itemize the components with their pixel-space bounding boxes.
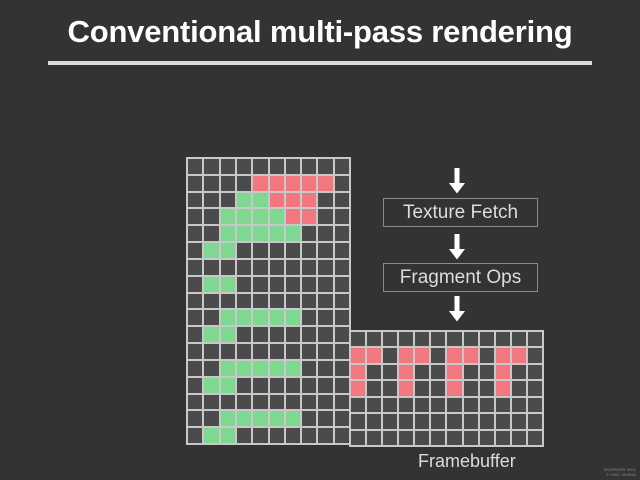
- grid-cell-empty: [415, 431, 429, 445]
- grid-cell-empty: [480, 398, 494, 412]
- grid-cell-empty: [286, 395, 300, 410]
- grid-cell-green: [237, 209, 251, 224]
- grid-cell-empty: [204, 361, 218, 376]
- grid-cell-green: [253, 361, 267, 376]
- source-geometry-grid: [186, 157, 351, 445]
- grid-cell-empty: [237, 176, 251, 191]
- grid-cell-empty: [302, 294, 316, 309]
- grid-cell-empty: [318, 209, 332, 224]
- grid-cell-green: [253, 226, 267, 241]
- grid-cell-green: [286, 411, 300, 426]
- watermark-line-2: © 2001, NVIDIA: [604, 472, 636, 477]
- grid-cell-empty: [431, 365, 445, 379]
- grid-cell-empty: [512, 398, 526, 412]
- grid-cell-red: [351, 365, 365, 379]
- grid-cell-green: [237, 361, 251, 376]
- grid-cell-empty: [270, 260, 284, 275]
- grid-cell-empty: [335, 243, 349, 258]
- grid-cell-empty: [335, 310, 349, 325]
- grid-cell-red: [496, 381, 510, 395]
- grid-cell-empty: [383, 365, 397, 379]
- grid-cell-empty: [528, 348, 542, 362]
- grid-cell-empty: [270, 344, 284, 359]
- grid-cell-red: [415, 348, 429, 362]
- grid-cell-empty: [204, 294, 218, 309]
- grid-cell-empty: [318, 243, 332, 258]
- grid-cell-red: [496, 348, 510, 362]
- grid-cell-empty: [204, 411, 218, 426]
- grid-cell-empty: [318, 344, 332, 359]
- grid-cell-red: [399, 365, 413, 379]
- grid-cell-green: [286, 361, 300, 376]
- grid-cell-empty: [188, 277, 202, 292]
- grid-cell-green: [270, 310, 284, 325]
- grid-cell-green: [237, 310, 251, 325]
- stage-texture-fetch-label: Texture Fetch: [403, 202, 518, 224]
- grid-cell-red: [318, 176, 332, 191]
- grid-cell-empty: [480, 414, 494, 428]
- grid-cell-empty: [237, 159, 251, 174]
- grid-cell-empty: [237, 428, 251, 443]
- grid-cell-red: [286, 176, 300, 191]
- grid-cell-red: [496, 365, 510, 379]
- grid-cell-green: [204, 327, 218, 342]
- grid-cell-empty: [221, 159, 235, 174]
- grid-cell-empty: [204, 395, 218, 410]
- grid-cell-empty: [204, 209, 218, 224]
- grid-cell-green: [237, 411, 251, 426]
- grid-cell-green: [221, 327, 235, 342]
- grid-cell-green: [204, 428, 218, 443]
- grid-cell-empty: [204, 344, 218, 359]
- grid-cell-empty: [399, 332, 413, 346]
- grid-cell-empty: [188, 209, 202, 224]
- grid-cell-empty: [286, 243, 300, 258]
- grid-cell-red: [302, 209, 316, 224]
- grid-cell-red: [302, 176, 316, 191]
- page-title: Conventional multi-pass rendering: [0, 14, 640, 50]
- grid-cell-empty: [447, 431, 461, 445]
- framebuffer-grid: [349, 330, 544, 447]
- grid-cell-empty: [302, 428, 316, 443]
- grid-cell-green: [204, 378, 218, 393]
- grid-cell-empty: [188, 159, 202, 174]
- grid-cell-empty: [253, 395, 267, 410]
- grid-cell-empty: [464, 381, 478, 395]
- grid-cell-empty: [447, 332, 461, 346]
- grid-cell-empty: [204, 226, 218, 241]
- grid-cell-empty: [399, 414, 413, 428]
- grid-cell-green: [237, 226, 251, 241]
- grid-cell-empty: [270, 428, 284, 443]
- grid-cell-empty: [286, 428, 300, 443]
- grid-cell-empty: [204, 159, 218, 174]
- stage-fragment-ops: Fragment Ops: [383, 263, 538, 292]
- grid-cell-red: [351, 348, 365, 362]
- grid-cell-green: [204, 243, 218, 258]
- grid-cell-empty: [253, 243, 267, 258]
- grid-cell-empty: [496, 431, 510, 445]
- grid-cell-empty: [335, 378, 349, 393]
- grid-cell-green: [221, 277, 235, 292]
- grid-cell-empty: [302, 243, 316, 258]
- grid-cell-empty: [286, 260, 300, 275]
- grid-cell-green: [270, 361, 284, 376]
- grid-cell-green: [253, 193, 267, 208]
- watermark: SIGGRAPH 2001 © 2001, NVIDIA: [604, 467, 636, 477]
- grid-cell-red: [399, 348, 413, 362]
- grid-cell-empty: [221, 176, 235, 191]
- grid-cell-empty: [480, 381, 494, 395]
- grid-cell-empty: [318, 378, 332, 393]
- grid-cell-red: [302, 193, 316, 208]
- grid-cell-empty: [253, 294, 267, 309]
- grid-cell-empty: [415, 332, 429, 346]
- grid-cell-empty: [335, 327, 349, 342]
- grid-cell-empty: [431, 398, 445, 412]
- grid-cell-empty: [318, 361, 332, 376]
- grid-cell-empty: [431, 332, 445, 346]
- grid-cell-empty: [237, 294, 251, 309]
- grid-cell-empty: [351, 398, 365, 412]
- grid-cell-empty: [335, 344, 349, 359]
- grid-cell-empty: [188, 395, 202, 410]
- grid-cell-empty: [318, 260, 332, 275]
- grid-cell-empty: [318, 159, 332, 174]
- grid-cell-empty: [480, 365, 494, 379]
- grid-cell-empty: [399, 431, 413, 445]
- grid-cell-empty: [253, 159, 267, 174]
- grid-cell-empty: [204, 260, 218, 275]
- grid-cell-empty: [318, 327, 332, 342]
- grid-cell-empty: [480, 431, 494, 445]
- grid-cell-empty: [431, 431, 445, 445]
- stage-texture-fetch: Texture Fetch: [383, 198, 538, 227]
- grid-cell-empty: [253, 378, 267, 393]
- grid-cell-empty: [253, 428, 267, 443]
- grid-cell-empty: [415, 381, 429, 395]
- grid-cell-empty: [318, 226, 332, 241]
- grid-cell-empty: [447, 398, 461, 412]
- grid-cell-empty: [415, 414, 429, 428]
- grid-cell-empty: [188, 193, 202, 208]
- grid-cell-empty: [512, 365, 526, 379]
- grid-cell-empty: [383, 398, 397, 412]
- grid-cell-empty: [335, 176, 349, 191]
- grid-cell-green: [221, 428, 235, 443]
- grid-cell-empty: [431, 414, 445, 428]
- grid-cell-red: [270, 176, 284, 191]
- grid-cell-empty: [270, 277, 284, 292]
- grid-cell-empty: [367, 398, 381, 412]
- grid-cell-empty: [188, 428, 202, 443]
- grid-cell-empty: [270, 378, 284, 393]
- grid-cell-red: [286, 193, 300, 208]
- grid-cell-empty: [237, 277, 251, 292]
- grid-cell-empty: [464, 431, 478, 445]
- grid-cell-empty: [286, 344, 300, 359]
- grid-cell-empty: [204, 176, 218, 191]
- grid-cell-empty: [188, 243, 202, 258]
- grid-cell-empty: [270, 294, 284, 309]
- grid-cell-empty: [302, 226, 316, 241]
- grid-cell-empty: [528, 381, 542, 395]
- grid-cell-empty: [204, 310, 218, 325]
- grid-cell-empty: [496, 414, 510, 428]
- slide-canvas: Conventional multi-pass rendering Textur…: [0, 0, 640, 480]
- grid-cell-empty: [496, 398, 510, 412]
- grid-cell-empty: [302, 277, 316, 292]
- grid-cell-empty: [318, 428, 332, 443]
- grid-cell-green: [221, 310, 235, 325]
- grid-cell-empty: [496, 332, 510, 346]
- grid-cell-empty: [367, 332, 381, 346]
- grid-cell-empty: [302, 159, 316, 174]
- grid-cell-empty: [383, 348, 397, 362]
- grid-cell-empty: [253, 277, 267, 292]
- grid-cell-empty: [335, 361, 349, 376]
- grid-cell-empty: [286, 327, 300, 342]
- grid-cell-empty: [221, 344, 235, 359]
- grid-cell-empty: [188, 344, 202, 359]
- grid-cell-empty: [253, 327, 267, 342]
- grid-cell-empty: [447, 414, 461, 428]
- grid-cell-empty: [383, 381, 397, 395]
- grid-cell-empty: [237, 395, 251, 410]
- grid-cell-empty: [302, 310, 316, 325]
- grid-cell-empty: [528, 365, 542, 379]
- arrow-down-icon: [448, 296, 466, 322]
- grid-cell-empty: [464, 332, 478, 346]
- grid-cell-empty: [188, 310, 202, 325]
- grid-cell-empty: [512, 332, 526, 346]
- grid-cell-empty: [335, 428, 349, 443]
- grid-cell-empty: [302, 260, 316, 275]
- grid-cell-empty: [464, 398, 478, 412]
- grid-cell-empty: [367, 381, 381, 395]
- grid-cell-empty: [415, 398, 429, 412]
- grid-cell-red: [512, 348, 526, 362]
- grid-cell-empty: [480, 332, 494, 346]
- grid-cell-green: [204, 277, 218, 292]
- grid-cell-empty: [221, 294, 235, 309]
- grid-cell-green: [253, 411, 267, 426]
- grid-cell-empty: [415, 365, 429, 379]
- stage-fragment-ops-label: Fragment Ops: [400, 267, 521, 289]
- grid-cell-empty: [286, 294, 300, 309]
- grid-cell-red: [286, 209, 300, 224]
- grid-cell-empty: [512, 414, 526, 428]
- grid-cell-empty: [318, 411, 332, 426]
- grid-cell-red: [447, 348, 461, 362]
- grid-cell-empty: [335, 395, 349, 410]
- grid-cell-green: [221, 209, 235, 224]
- grid-cell-empty: [335, 226, 349, 241]
- grid-cell-green: [221, 411, 235, 426]
- grid-cell-red: [447, 365, 461, 379]
- grid-cell-empty: [367, 414, 381, 428]
- grid-cell-green: [270, 411, 284, 426]
- grid-cell-red: [399, 381, 413, 395]
- arrow-down-icon: [448, 168, 466, 194]
- grid-cell-empty: [204, 193, 218, 208]
- grid-cell-green: [286, 310, 300, 325]
- grid-cell-empty: [318, 310, 332, 325]
- grid-cell-empty: [318, 395, 332, 410]
- grid-cell-empty: [302, 361, 316, 376]
- grid-cell-empty: [318, 193, 332, 208]
- grid-cell-empty: [367, 365, 381, 379]
- grid-cell-empty: [464, 414, 478, 428]
- grid-cell-green: [253, 209, 267, 224]
- grid-cell-empty: [237, 243, 251, 258]
- title-underline-rule: [48, 61, 592, 65]
- grid-cell-green: [270, 226, 284, 241]
- grid-cell-empty: [367, 431, 381, 445]
- grid-cell-green: [270, 209, 284, 224]
- grid-cell-red: [464, 348, 478, 362]
- grid-cell-empty: [480, 348, 494, 362]
- grid-cell-empty: [286, 378, 300, 393]
- grid-cell-green: [221, 361, 235, 376]
- grid-cell-empty: [286, 159, 300, 174]
- grid-cell-empty: [528, 332, 542, 346]
- grid-cell-empty: [188, 260, 202, 275]
- grid-cell-empty: [270, 395, 284, 410]
- grid-cell-empty: [302, 395, 316, 410]
- grid-cell-empty: [188, 327, 202, 342]
- grid-cell-green: [221, 243, 235, 258]
- grid-cell-empty: [237, 327, 251, 342]
- grid-cell-empty: [221, 193, 235, 208]
- grid-cell-empty: [318, 277, 332, 292]
- grid-cell-empty: [335, 209, 349, 224]
- grid-cell-red: [367, 348, 381, 362]
- grid-cell-empty: [512, 431, 526, 445]
- grid-cell-empty: [335, 411, 349, 426]
- grid-cell-empty: [431, 348, 445, 362]
- grid-cell-empty: [335, 294, 349, 309]
- grid-cell-empty: [302, 327, 316, 342]
- grid-cell-empty: [188, 378, 202, 393]
- grid-cell-red: [447, 381, 461, 395]
- grid-cell-red: [270, 193, 284, 208]
- grid-cell-empty: [302, 344, 316, 359]
- grid-cell-green: [253, 310, 267, 325]
- grid-cell-empty: [318, 294, 332, 309]
- grid-cell-empty: [237, 344, 251, 359]
- grid-cell-empty: [351, 332, 365, 346]
- framebuffer-label: Framebuffer: [418, 451, 516, 472]
- grid-cell-empty: [237, 260, 251, 275]
- grid-cell-empty: [383, 414, 397, 428]
- grid-cell-empty: [335, 260, 349, 275]
- grid-cell-empty: [464, 365, 478, 379]
- grid-cell-empty: [399, 398, 413, 412]
- grid-cell-empty: [253, 344, 267, 359]
- arrow-down-icon: [448, 234, 466, 260]
- grid-cell-empty: [188, 361, 202, 376]
- grid-cell-green: [221, 226, 235, 241]
- grid-cell-empty: [528, 431, 542, 445]
- grid-cell-empty: [188, 294, 202, 309]
- grid-cell-green: [237, 193, 251, 208]
- grid-cell-green: [286, 226, 300, 241]
- grid-cell-empty: [237, 378, 251, 393]
- grid-cell-empty: [383, 431, 397, 445]
- grid-cell-empty: [270, 243, 284, 258]
- grid-cell-empty: [335, 159, 349, 174]
- grid-cell-empty: [528, 398, 542, 412]
- grid-cell-empty: [512, 381, 526, 395]
- grid-cell-empty: [221, 395, 235, 410]
- grid-cell-empty: [253, 260, 267, 275]
- grid-cell-empty: [431, 381, 445, 395]
- grid-cell-empty: [221, 260, 235, 275]
- grid-cell-red: [351, 381, 365, 395]
- grid-cell-empty: [351, 431, 365, 445]
- grid-cell-empty: [188, 226, 202, 241]
- grid-cell-empty: [188, 411, 202, 426]
- grid-cell-empty: [528, 414, 542, 428]
- grid-cell-green: [221, 378, 235, 393]
- grid-cell-empty: [286, 277, 300, 292]
- grid-cell-empty: [188, 176, 202, 191]
- grid-cell-empty: [302, 411, 316, 426]
- grid-cell-empty: [335, 193, 349, 208]
- grid-cell-empty: [302, 378, 316, 393]
- grid-cell-empty: [270, 327, 284, 342]
- grid-cell-empty: [335, 277, 349, 292]
- grid-cell-red: [253, 176, 267, 191]
- grid-cell-empty: [351, 414, 365, 428]
- grid-cell-empty: [270, 159, 284, 174]
- grid-cell-empty: [383, 332, 397, 346]
